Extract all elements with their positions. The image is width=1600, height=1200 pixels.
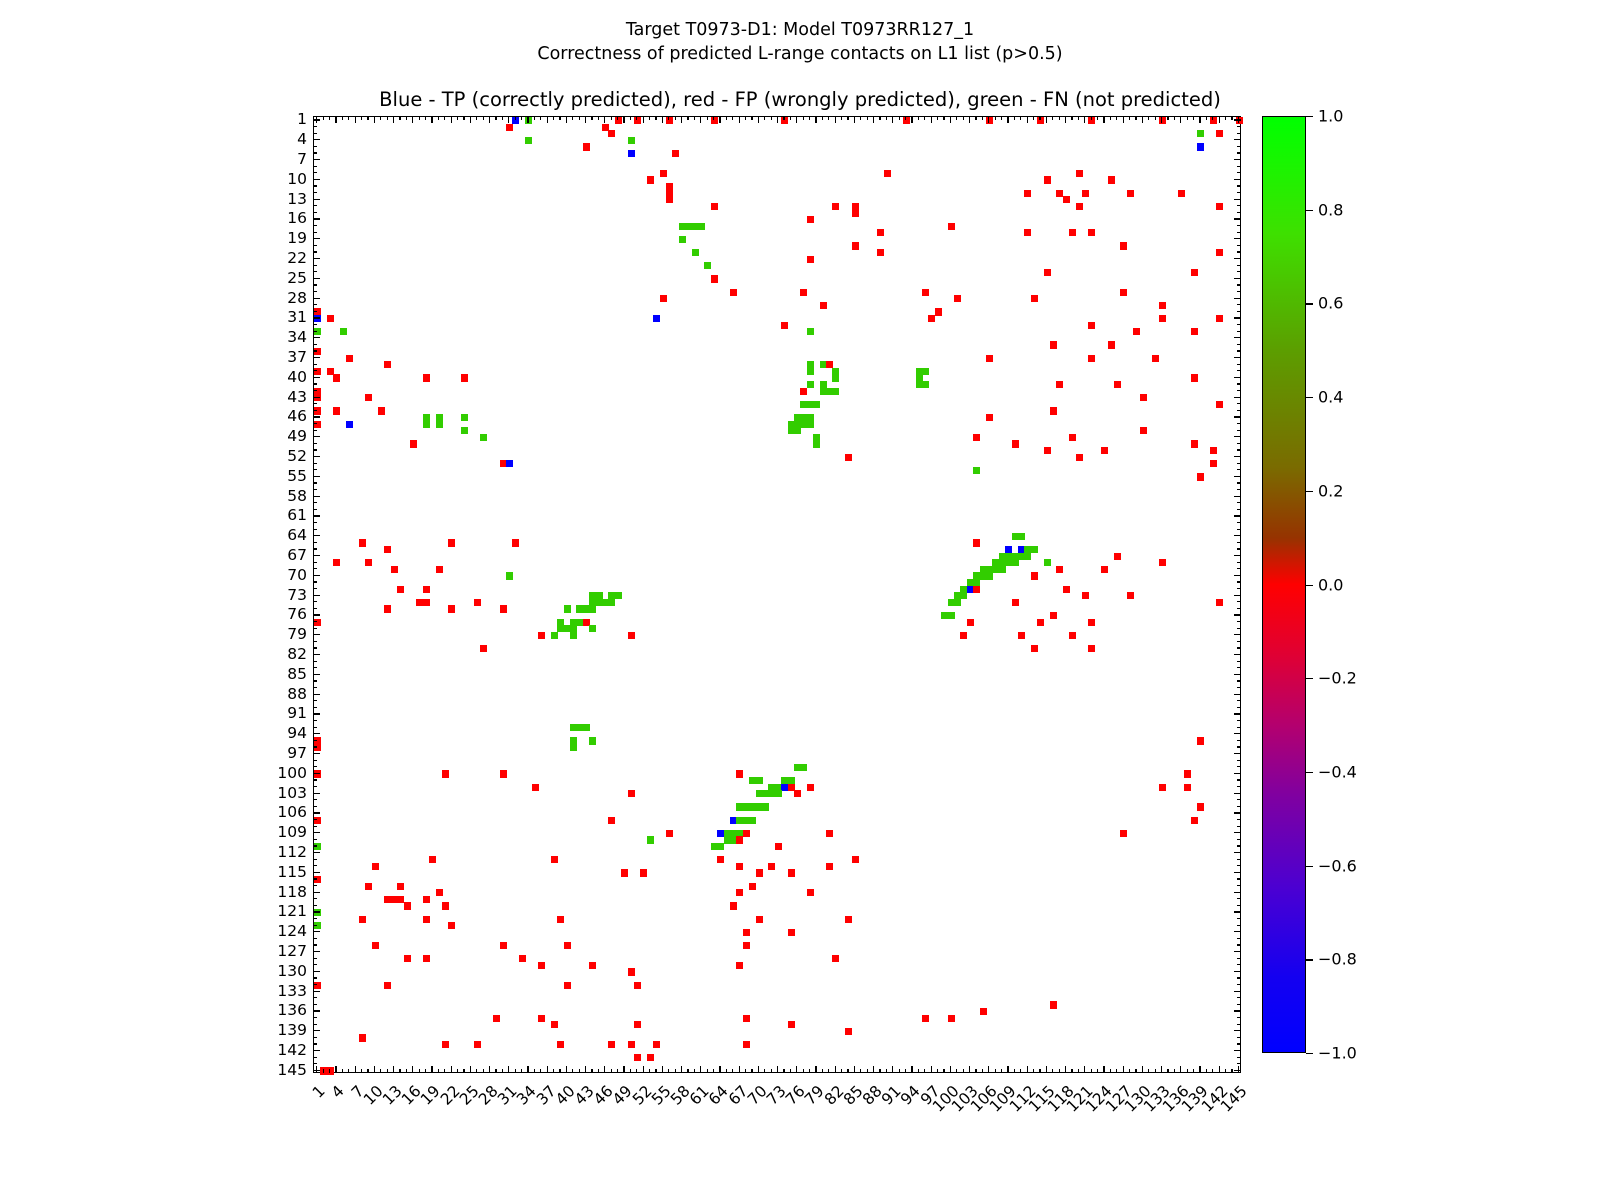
y-axis-tick [1237,370,1241,371]
x-axis-tick [803,116,804,120]
y-axis-tick [1237,284,1241,285]
y-axis-tick [313,608,317,609]
x-axis-tick [860,1069,861,1073]
contact-cell [980,1008,987,1015]
contact-cell [1216,599,1223,606]
x-axis-tick [1065,1066,1066,1073]
contact-cell [512,539,519,546]
x-axis-tick [483,116,484,120]
y-axis-tick [313,245,317,246]
contact-cell [1076,170,1083,177]
y-axis-tick [1234,991,1241,992]
x-axis-tick [771,1069,772,1073]
y-axis-tick [1237,568,1241,569]
contact-cell [583,143,590,150]
y-axis-tick [313,278,320,279]
contact-cell [570,632,577,639]
x-axis-tick [1155,1069,1156,1073]
y-axis-tick [1234,931,1241,932]
y-axis-tick [1234,218,1241,219]
contact-cell [429,856,436,863]
contact-cell [756,869,763,876]
contact-cell [717,843,724,850]
contact-cell [672,150,679,157]
y-axis-tick [313,509,317,510]
x-axis-tick [969,1066,970,1073]
contact-cell [314,407,321,414]
colorbar-tick [1306,678,1313,679]
contact-cell [807,368,814,375]
x-axis-tick [483,1069,484,1073]
y-axis-tick [1237,265,1241,266]
x-axis-tick [1116,1069,1117,1073]
x-axis-tick [329,1069,330,1073]
contact-cell [807,889,814,896]
contact-cell [564,982,571,989]
y-axis-tick [1237,1057,1241,1058]
y-axis-tick [1237,839,1241,840]
contact-cell [730,902,737,909]
contact-cell [628,150,635,157]
y-axis-tick [313,753,320,754]
y-axis-tick [313,482,317,483]
contact-cell [781,322,788,329]
contact-cell [314,982,321,989]
x-axis-tick [988,116,989,123]
contact-cell [1044,269,1051,276]
x-axis-tick [777,116,778,123]
y-axis-tick [313,944,317,945]
y-axis-tick [1237,925,1241,926]
colorbar-tick-label: 0.8 [1318,200,1343,219]
y-axis-tick [313,713,320,714]
contact-cell [621,869,628,876]
x-axis-tick [745,116,746,120]
contact-cell [1018,632,1025,639]
x-axis-tick [950,1066,951,1073]
contact-cell [1197,803,1204,810]
contact-cell [1210,117,1217,124]
y-axis-tick [1237,997,1241,998]
y-axis-tick [1237,819,1241,820]
contact-cell [372,863,379,870]
y-axis-tick [1237,1024,1241,1025]
y-axis-tick [1237,1017,1241,1018]
contact-cell [807,421,814,428]
colorbar-tick [1306,116,1313,117]
contact-cell [1127,190,1134,197]
x-axis-tick [751,116,752,120]
contact-cell [1120,242,1127,249]
contact-cell [1082,592,1089,599]
x-axis-tick [668,116,669,120]
x-axis-tick [393,116,394,123]
y-axis-tick [1234,694,1241,695]
y-axis-tick [1234,357,1241,358]
x-axis-tick [604,1066,605,1073]
x-axis-tick [655,1069,656,1073]
contact-cell [314,315,321,322]
contact-cell [1140,427,1147,434]
contact-cell [736,770,743,777]
y-tick-label: 7 [297,150,307,168]
contact-cell [807,381,814,388]
y-axis-tick [313,337,320,338]
y-axis-tick [313,925,317,926]
y-axis-tick [313,430,317,431]
y-axis-tick [1237,898,1241,899]
contact-cell [1216,401,1223,408]
x-axis-tick [854,1066,855,1073]
contact-cell [999,566,1006,573]
y-axis-tick [313,502,317,503]
contact-cell [1114,553,1121,560]
y-axis-tick [313,496,320,497]
contact-cell [852,856,859,863]
figure-title: Target T0973-D1: Model T0973RR127_1 Corr… [0,18,1600,66]
contact-cell [1159,117,1166,124]
y-axis-tick [1237,661,1241,662]
y-axis-tick [313,133,317,134]
y-axis-tick [313,938,317,939]
contact-cell [1197,143,1204,150]
y-axis-tick [313,727,317,728]
contact-cell [986,355,993,362]
y-axis-tick [1237,581,1241,582]
contact-cell [634,117,641,124]
contact-cell [647,176,654,183]
colorbar-tick-label: −1.0 [1318,1044,1357,1063]
x-axis-tick [892,1066,893,1073]
x-axis-tick [975,1069,976,1073]
x-axis-tick [1142,1066,1143,1073]
x-axis-tick [1046,116,1047,123]
x-axis-tick [1097,116,1098,120]
x-axis-tick [675,1069,676,1073]
y-axis-tick [1234,535,1241,536]
y-axis-tick [313,489,317,490]
x-axis-tick [515,116,516,120]
contact-map-cells [314,117,1240,1072]
contact-cell [781,117,788,124]
y-axis-tick [313,819,317,820]
contact-cell [557,1041,564,1048]
y-axis-tick [313,271,317,272]
x-axis-tick [943,116,944,120]
x-axis-tick [911,116,912,123]
contact-cell [1069,434,1076,441]
contact-cell [1159,302,1166,309]
y-axis-tick [313,152,317,153]
x-axis-tick [1059,116,1060,120]
y-axis-tick [1237,311,1241,312]
y-axis-tick [313,773,320,774]
x-axis-tick [566,1066,567,1073]
y-axis-tick [313,733,320,734]
contact-cell [832,203,839,210]
contact-cell [749,817,756,824]
y-tick-label: 88 [287,685,307,703]
y-tick-label: 25 [287,269,307,287]
y-axis-tick [1237,383,1241,384]
y-axis-tick [1237,390,1241,391]
x-axis-tick [764,1069,765,1073]
y-axis-tick [1237,984,1241,985]
x-axis-tick [1078,1069,1079,1073]
y-axis-tick [313,971,320,972]
y-axis-tick [313,667,317,668]
y-axis-tick [1237,687,1241,688]
x-axis-tick [828,116,829,120]
x-axis-tick [969,116,970,123]
y-axis-tick [313,469,317,470]
color-legend-text: Blue - TP (correctly predicted), red - F… [0,88,1600,111]
y-axis-tick [313,977,317,978]
y-axis-tick [313,179,320,180]
x-axis-tick [643,116,644,123]
y-axis-tick [1237,628,1241,629]
y-tick-label: 100 [277,764,307,782]
y-axis-tick [313,687,317,688]
y-axis-tick [313,964,317,965]
x-axis-tick [617,1069,618,1073]
contact-cell [532,784,539,791]
y-axis-tick [1237,878,1241,879]
x-axis-tick [649,1069,650,1073]
x-axis-tick [1238,1066,1239,1073]
y-axis-tick [1237,489,1241,490]
y-axis-tick [313,766,317,767]
y-axis-tick [313,529,317,530]
y-axis-tick [313,291,317,292]
y-axis-tick [1237,364,1241,365]
x-axis-tick [975,116,976,120]
y-axis-tick [1237,964,1241,965]
y-axis-tick [1237,350,1241,351]
contact-cell [736,836,743,843]
y-axis-tick [1237,146,1241,147]
y-axis-tick [1234,515,1241,516]
x-axis-tick [1219,1066,1220,1073]
y-axis-tick [313,1057,317,1058]
contact-cell [365,559,372,566]
y-axis-tick [313,694,320,695]
contact-cell [807,784,814,791]
contact-cell [384,546,391,553]
x-axis-tick [566,116,567,123]
x-axis-tick [457,1069,458,1073]
x-axis-tick [1001,1069,1002,1073]
y-axis-tick [313,1010,320,1011]
y-axis-tick [313,826,317,827]
contact-cell [826,830,833,837]
contact-cell [327,315,334,322]
x-axis-tick [463,116,464,120]
x-axis-tick [655,116,656,120]
x-axis-tick [726,116,727,120]
y-axis-tick [1234,733,1241,734]
x-axis-tick [751,1069,752,1073]
y-tick-label: 16 [287,209,307,227]
y-axis-tick [1237,529,1241,530]
y-axis-tick [313,555,320,556]
x-axis-tick [911,1066,912,1073]
y-axis-tick [1234,258,1241,259]
contact-cell [551,1021,558,1028]
y-axis-tick [1237,859,1241,860]
y-axis-tick [313,760,317,761]
x-axis-tick [1212,1069,1213,1073]
colorbar-tick [1306,772,1313,773]
x-axis-tick [758,1066,759,1073]
contact-cell [1031,546,1038,553]
x-axis-tick [1174,1069,1175,1073]
x-axis-tick [1167,116,1168,120]
y-axis-tick [313,839,317,840]
y-axis-tick [1234,674,1241,675]
colorbar-gradient [1262,116,1306,1053]
contact-cell [954,599,961,606]
contact-cell [493,1015,500,1022]
contact-cell [800,764,807,771]
colorbar-tick [1306,397,1313,398]
contact-cell [1216,203,1223,210]
y-tick-label: 139 [277,1021,307,1039]
y-axis-tick [313,707,317,708]
y-axis-tick [1234,832,1241,833]
y-tick-label: 37 [287,348,307,366]
contact-cell [800,289,807,296]
x-axis-tick [502,1069,503,1073]
contact-cell [378,407,385,414]
y-axis-tick [1237,482,1241,483]
contact-cell [1018,533,1025,540]
contact-cell [423,599,430,606]
y-axis-tick [1237,977,1241,978]
x-axis-tick [335,1066,336,1073]
contact-cell [1133,328,1140,335]
y-axis-tick [313,542,317,543]
contact-cell [698,223,705,230]
y-axis-tick [313,575,320,576]
contact-cell [628,790,635,797]
y-axis-tick [1234,397,1241,398]
contact-cell [1088,229,1095,236]
x-axis-tick [918,116,919,120]
contact-cell [1152,355,1159,362]
x-axis-tick [1052,116,1053,120]
y-axis-tick [1237,344,1241,345]
contact-cell [1101,566,1108,573]
contact-cell [423,916,430,923]
contact-cell [736,863,743,870]
x-axis-tick [1059,1069,1060,1073]
contact-cell [474,1041,481,1048]
x-axis-tick [438,1069,439,1073]
x-axis-tick [1161,1066,1162,1073]
contact-cell [519,955,526,962]
y-axis-tick [313,449,317,450]
x-axis-tick [796,1066,797,1073]
x-axis-tick [732,116,733,120]
x-axis-tick [591,116,592,120]
contact-cell [436,889,443,896]
x-axis-tick [470,1066,471,1073]
contact-cell [794,790,801,797]
x-axis-tick [1014,1069,1015,1073]
contact-cell [743,942,750,949]
x-axis-tick [1129,116,1130,120]
title-line-1: Target T0973-D1: Model T0973RR127_1 [0,18,1600,42]
y-axis-tick [1234,634,1241,635]
y-axis-tick [1237,304,1241,305]
x-axis-tick [425,1069,426,1073]
y-axis-tick [1234,793,1241,794]
x-axis-tick [355,1066,356,1073]
y-axis-tick [313,793,320,794]
x-axis-tick [342,116,343,120]
y-axis-tick [1237,126,1241,127]
y-axis-tick [1237,562,1241,563]
y-axis-tick [313,898,317,899]
y-axis-tick [1237,410,1241,411]
y-axis-tick [1237,938,1241,939]
x-axis-tick [867,1069,868,1073]
y-axis-tick [313,416,320,417]
y-axis-tick [1237,766,1241,767]
contact-cell [973,539,980,546]
contact-cell [813,440,820,447]
y-tick-label: 31 [287,308,307,326]
y-tick-label: 136 [277,1001,307,1019]
y-axis-tick [1234,595,1241,596]
y-axis-tick [1237,621,1241,622]
contact-cell [1191,328,1198,335]
x-axis-tick [1123,116,1124,123]
x-axis-tick [1193,116,1194,120]
y-axis-tick [313,984,317,985]
x-axis-tick [489,1066,490,1073]
y-axis-tick [1234,199,1241,200]
x-axis-tick [1078,116,1079,120]
y-tick-label: 1 [297,110,307,128]
x-axis-tick [700,1066,701,1073]
x-axis-tick [662,116,663,123]
contact-cell [730,289,737,296]
x-axis-tick [636,116,637,120]
x-axis-tick [745,1069,746,1073]
contact-cell [832,388,839,395]
contact-cell [807,216,814,223]
y-axis-tick [1237,786,1241,787]
y-axis-tick [1237,331,1241,332]
y-tick-label: 85 [287,665,307,683]
contact-map-plot [313,116,1241,1073]
x-axis-tick [419,1069,420,1073]
contact-cell [384,361,391,368]
y-axis-tick [1237,324,1241,325]
y-axis-tick [313,779,317,780]
y-axis-tick [1234,713,1241,714]
y-axis-tick [313,641,317,642]
contact-cell [1178,190,1185,197]
x-axis-tick [412,116,413,123]
x-axis-tick [374,116,375,123]
contact-cell [852,242,859,249]
y-axis-tick [313,146,317,147]
colorbar-tick-label: −0.8 [1318,950,1357,969]
y-axis-tick [1234,1030,1241,1031]
